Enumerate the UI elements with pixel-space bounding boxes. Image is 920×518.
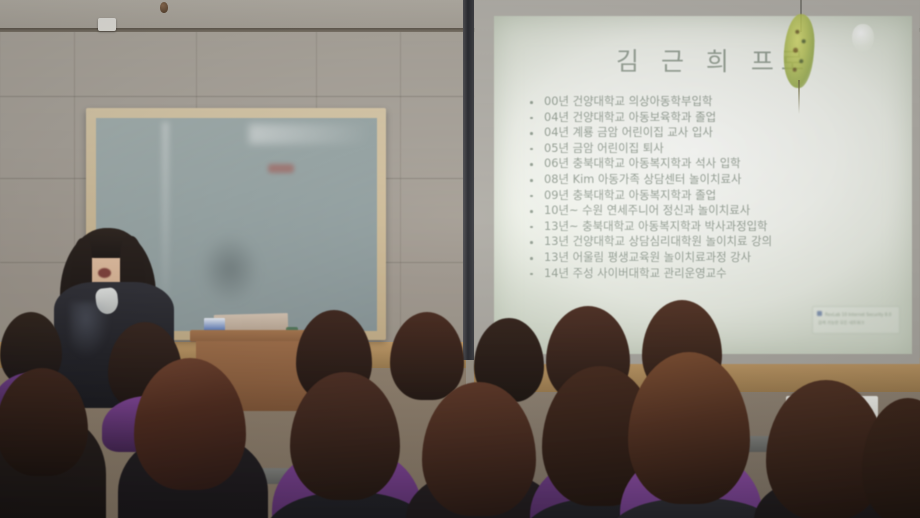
- presenter-mouth: [98, 268, 111, 278]
- list-item: 10년~ 수원 연세주니어 정신과 놀이치료사: [522, 203, 906, 219]
- ceiling-fixture: [98, 18, 116, 31]
- slide-title: 김 근 희 프로: [616, 42, 811, 78]
- list-item: 13년~ 충북대학교 아동복지학과 박사과정입학: [522, 219, 906, 235]
- list-item: 13년 건양대학교 상담심리대학원 놀이치료 강의: [522, 234, 906, 250]
- slide-footer-badge: RevLab 10 Internet Security 8.0 검색 가능한 모…: [812, 306, 900, 334]
- footer-line-2: 검색 가능한 모든 네트워크: [818, 320, 864, 326]
- list-item: 06년 충북대학교 아동복지학과 석사 입학: [522, 156, 906, 172]
- presenter-highlight: [70, 302, 110, 358]
- whiteboard-shadow: [200, 234, 260, 304]
- list-item: 04년 계룡 금암 어린이집 교사 입사: [522, 125, 906, 141]
- whiteboard-red-marks: [268, 164, 294, 173]
- footer-line-1: RevLab 10 Internet Security 8.0: [825, 312, 891, 317]
- shield-icon: [817, 311, 822, 316]
- light-bulb-icon: [852, 24, 874, 52]
- list-item: 08년 Kim 아동가족 상담센터 놀이치료사: [522, 172, 906, 188]
- ornament-tail: [798, 80, 800, 114]
- slide-bullet-list: 00년 건양대학교 의상아동학부입학 04년 건양대학교 아동보육학과 졸업 0…: [522, 94, 906, 281]
- list-item: 05년 금암 어린이집 퇴사: [522, 141, 906, 157]
- wall-corner-edge: [463, 0, 474, 360]
- projection-screen: 김 근 희 프로 00년 건양대학교 의상아동학부입학 04년 건양대학교 아동…: [494, 16, 912, 354]
- list-item: 14년 주성 사이버대학교 관리운영교수: [522, 266, 906, 282]
- list-item: 00년 건양대학교 의상아동학부입학: [522, 94, 906, 110]
- list-item: 13년 어울림 평생교육원 놀이치료과정 강사: [522, 250, 906, 266]
- list-item: 09년 충북대학교 아동복지학과 졸업: [522, 188, 906, 204]
- list-item: 04년 건양대학교 아동보육학과 졸업: [522, 110, 906, 126]
- whiteboard-glare: [249, 124, 369, 144]
- lecture-hall-photo: 김 근 희 프로 00년 건양대학교 의상아동학부입학 04년 건양대학교 아동…: [0, 0, 920, 518]
- ceiling-knob-icon: [160, 2, 168, 13]
